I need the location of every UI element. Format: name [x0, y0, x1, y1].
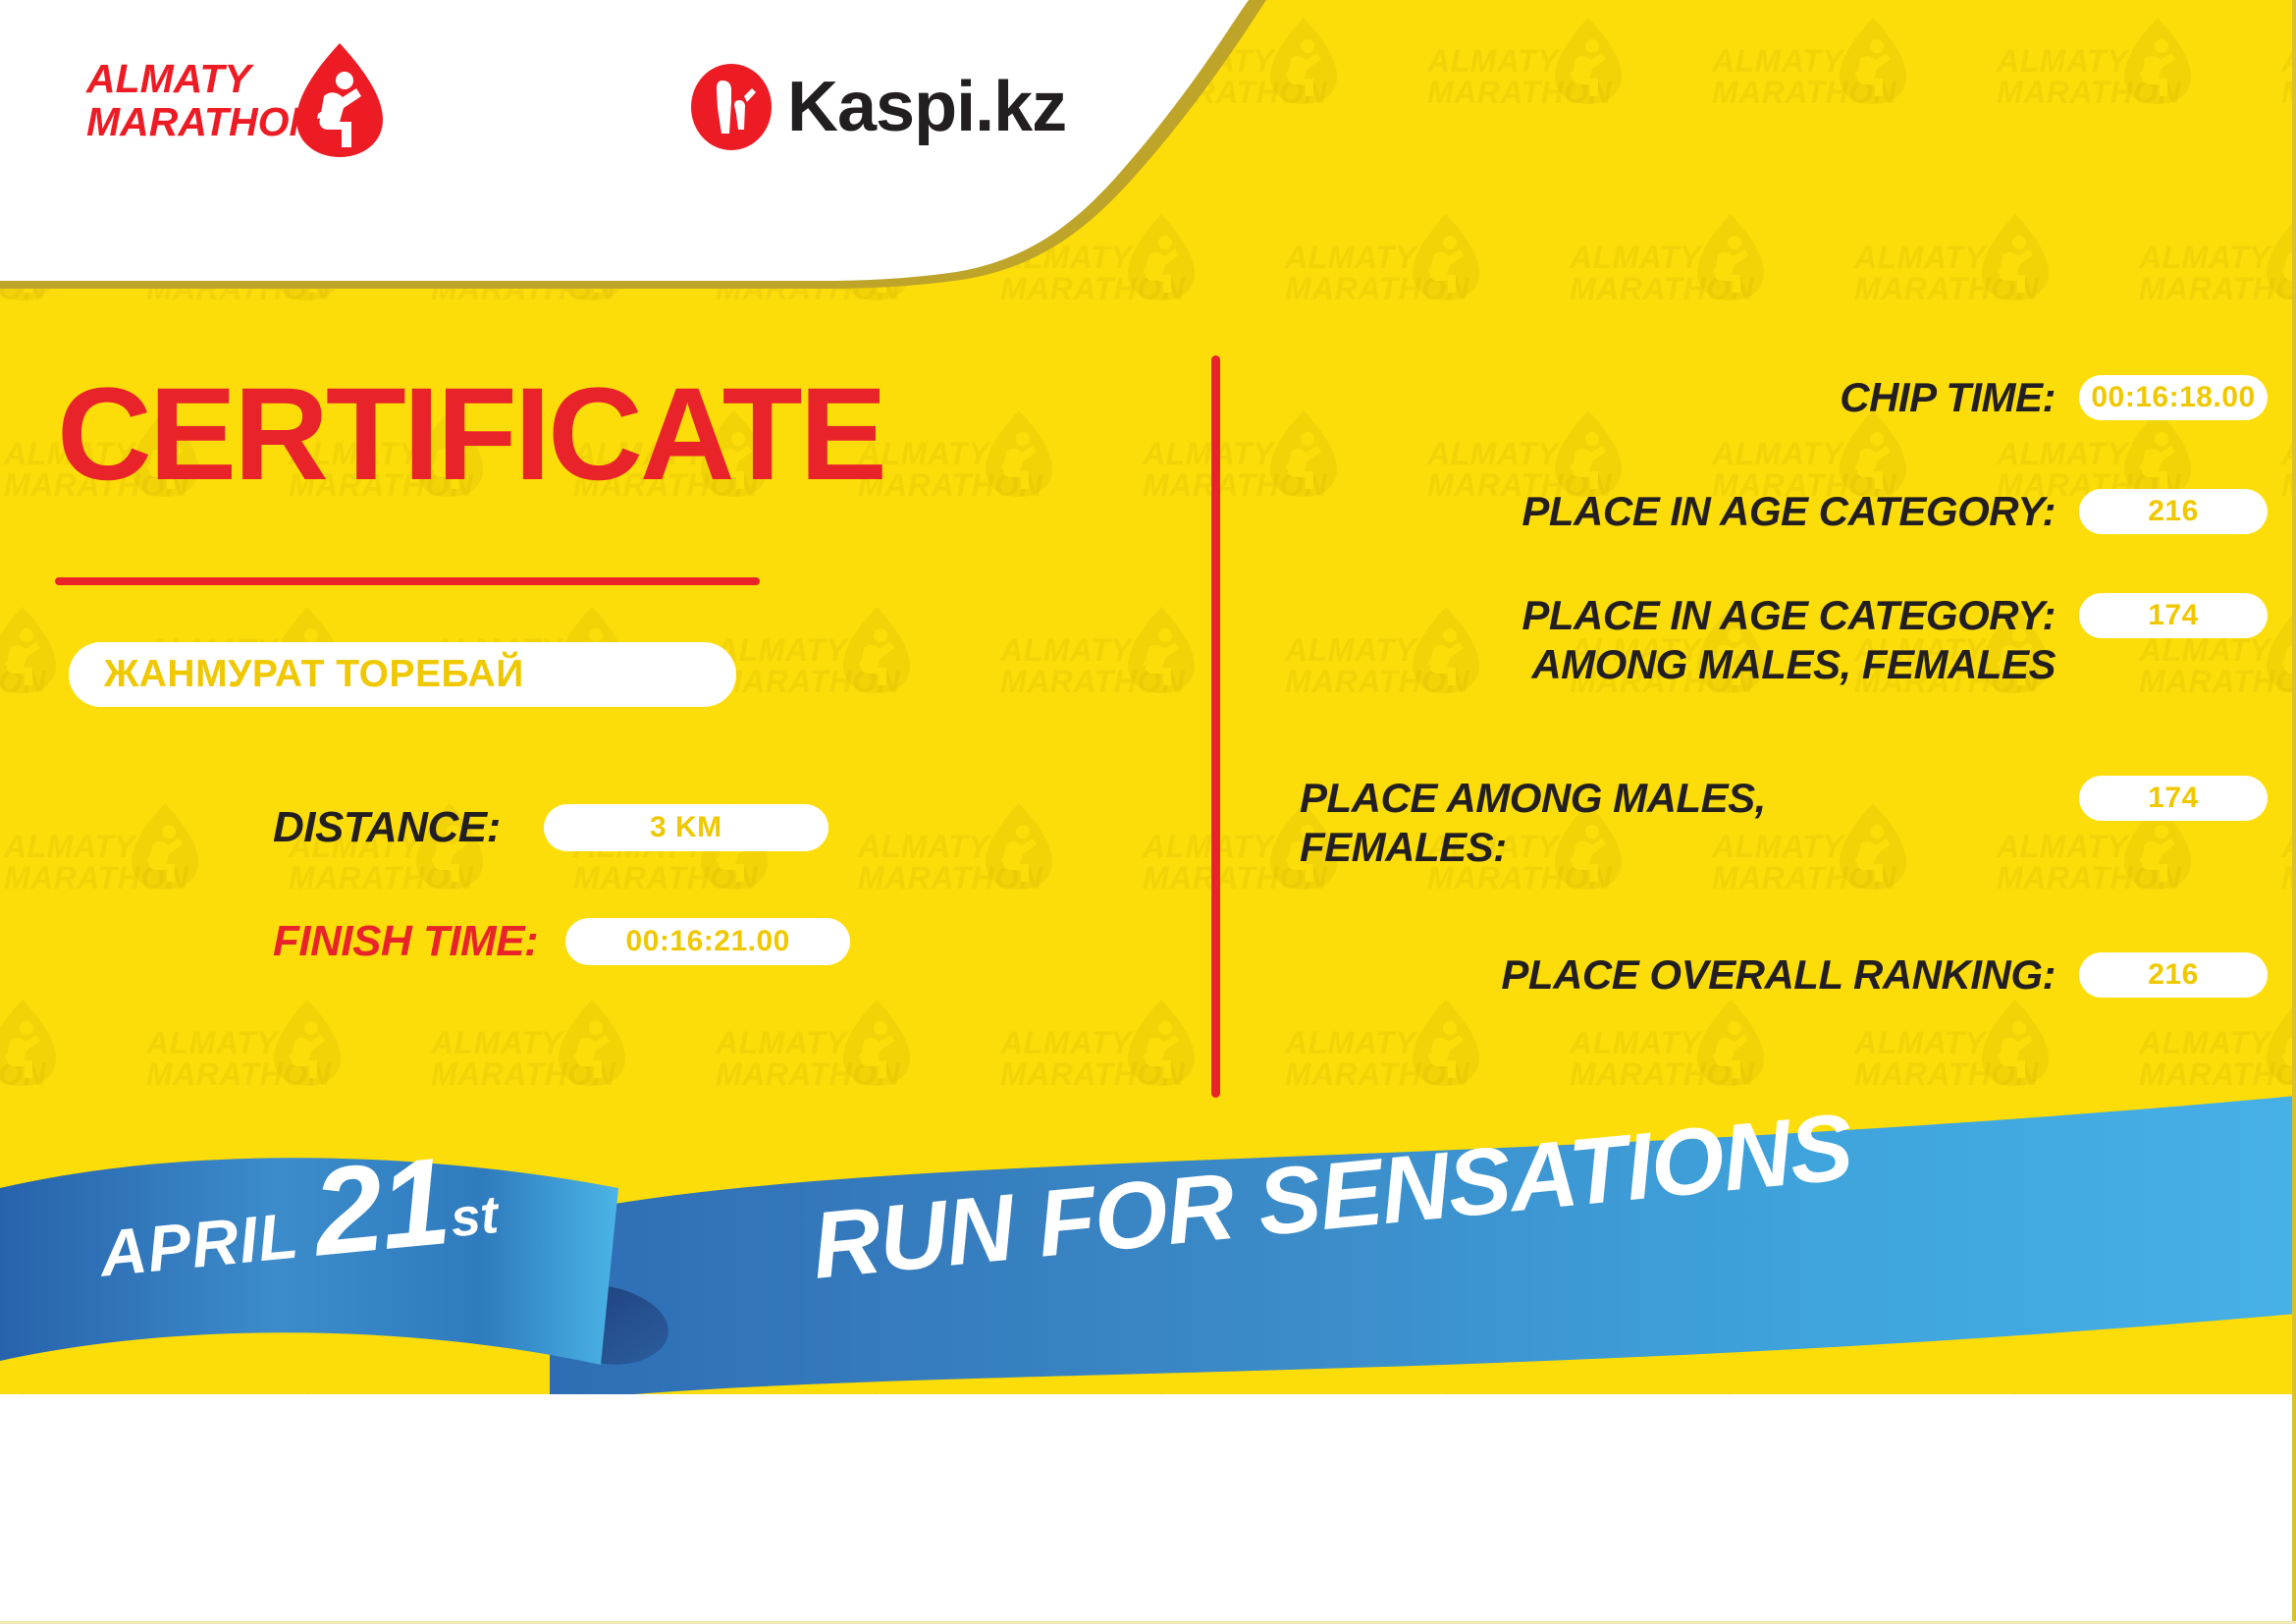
finish-time-row: FINISH TIME: 00:16:21.00	[273, 917, 850, 966]
distance-row: DISTANCE: 3 KM	[273, 803, 828, 852]
stat-value-place-among-gender: 174	[2148, 782, 2199, 815]
distance-value: 3 KM	[650, 811, 722, 844]
stat-value-field-place-age-category: 216	[2079, 489, 2268, 534]
event-month: APRIL	[96, 1199, 301, 1290]
stat-value-place-age-category: 216	[2148, 495, 2199, 528]
stat-label-chip-time: CHIP TIME:	[1276, 373, 2079, 422]
participant-name-value: ЖАНМУРАТ ТОРЕБАЙ	[104, 653, 524, 696]
stat-label-place-among-gender: PLACE AMONG MALES, FEMALES:	[1276, 774, 2079, 871]
stat-row-place-overall: PLACE OVERALL RANKING: 216	[1276, 950, 2268, 1000]
kaspi-logo-text: Kaspi.kz	[787, 67, 1066, 147]
stat-value-field-place-age-category-gender: 174	[2079, 593, 2268, 638]
stat-row-place-age-category-gender: PLACE IN AGE CATEGORY: AMONG MALES, FEMA…	[1276, 591, 2268, 688]
stat-label-line1: PLACE AMONG MALES,	[1300, 774, 2056, 823]
stat-value-field-place-overall: 216	[2079, 952, 2268, 998]
page-title: CERTIFICATE	[57, 369, 884, 501]
stat-value-chip-time: 00:16:18.00	[2091, 381, 2255, 414]
stat-label-place-overall: PLACE OVERALL RANKING:	[1276, 950, 2079, 1000]
stat-label-line1: PLACE IN AGE CATEGORY:	[1276, 591, 2056, 640]
finish-time-value: 00:16:21.00	[626, 925, 790, 958]
title-underline-rule	[55, 577, 760, 585]
stat-row-place-age-category: PLACE IN AGE CATEGORY: 216	[1276, 487, 2268, 536]
stat-label-place-age-category: PLACE IN AGE CATEGORY:	[1276, 487, 2079, 536]
participant-name-field: ЖАНМУРАТ ТОРЕБАЙ	[69, 642, 736, 707]
finish-time-label: FINISH TIME:	[273, 917, 538, 966]
certificate-page: ALMATYMARATHONALMATYMARATHONALMATYMARATH…	[0, 0, 2296, 1624]
finish-time-value-field: 00:16:21.00	[565, 918, 850, 965]
sponsors-strip: Sulpak SANOFI Empowering Life ORIFLAME S…	[0, 1394, 2296, 1624]
kaspi-logo: Kaspi.kz	[687, 61, 1080, 159]
stat-row-place-among-gender: PLACE AMONG MALES, FEMALES: 174	[1276, 774, 2268, 871]
almaty-marathon-logo-text: ALMATY MARATHON	[86, 57, 318, 144]
distance-value-field: 3 KM	[544, 804, 828, 851]
event-day: 21	[307, 1131, 454, 1281]
stat-value-field-place-among-gender: 174	[2079, 776, 2268, 821]
stat-value-place-age-category-gender: 174	[2148, 599, 2199, 632]
right-edge-border	[2292, 0, 2296, 1624]
vertical-divider	[1211, 355, 1220, 1098]
kaspi-mark-icon	[687, 63, 775, 151]
stat-row-chip-time: CHIP TIME: 00:16:18.00	[1276, 373, 2268, 422]
distance-label: DISTANCE:	[273, 803, 501, 852]
almaty-marathon-drop-icon	[294, 41, 385, 159]
stat-value-field-chip-time: 00:16:18.00	[2079, 375, 2268, 420]
stat-value-place-overall: 216	[2148, 958, 2199, 992]
stat-label-line2: AMONG MALES, FEMALES	[1276, 640, 2056, 689]
event-day-suffix: st	[448, 1185, 501, 1248]
stat-label-line2: FEMALES:	[1300, 823, 2056, 872]
almaty-marathon-logo: ALMATY MARATHON	[86, 41, 410, 159]
stat-label-place-age-category-gender: PLACE IN AGE CATEGORY: AMONG MALES, FEMA…	[1276, 591, 2079, 688]
